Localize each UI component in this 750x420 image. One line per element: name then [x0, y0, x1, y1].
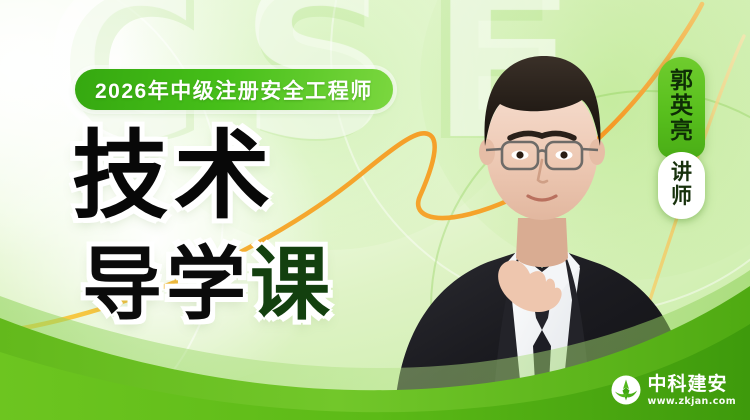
- course-category-badge: 2026年中级注册安全工程师: [75, 69, 393, 110]
- instructor-portrait: [392, 0, 692, 420]
- course-title: 技术: [72, 128, 334, 226]
- instructor-name-char: 亮: [670, 118, 693, 143]
- course-poster: CSE CSE: [0, 0, 750, 420]
- brand-url: www.zkjan.com: [648, 397, 736, 407]
- headline-block: 技术 导学课: [72, 128, 334, 326]
- instructor-name-char: 郭: [670, 68, 693, 93]
- zkjan-circle-logo-icon: [611, 375, 641, 405]
- instructor-name-char: 英: [670, 93, 693, 118]
- instructor-role-char: 讲: [671, 161, 692, 184]
- brand-logo-text: 中科建安 www.zkjan.com: [648, 375, 736, 407]
- course-category-label: 2026年中级注册安全工程师: [95, 75, 373, 105]
- course-subtitle-main: 导学: [82, 240, 250, 329]
- course-subtitle-accent: 课: [250, 240, 334, 329]
- instructor-role: 讲 师: [658, 152, 705, 218]
- instructor-name: 郭 英 亮: [658, 57, 705, 158]
- brand-name: 中科建安: [648, 375, 736, 394]
- brand-logo: 中科建安 www.zkjan.com: [611, 375, 736, 407]
- instructor-role-char: 师: [671, 185, 692, 208]
- course-subtitle: 导学课: [82, 244, 334, 326]
- instructor-badge: 郭 英 亮 讲 师: [658, 57, 705, 219]
